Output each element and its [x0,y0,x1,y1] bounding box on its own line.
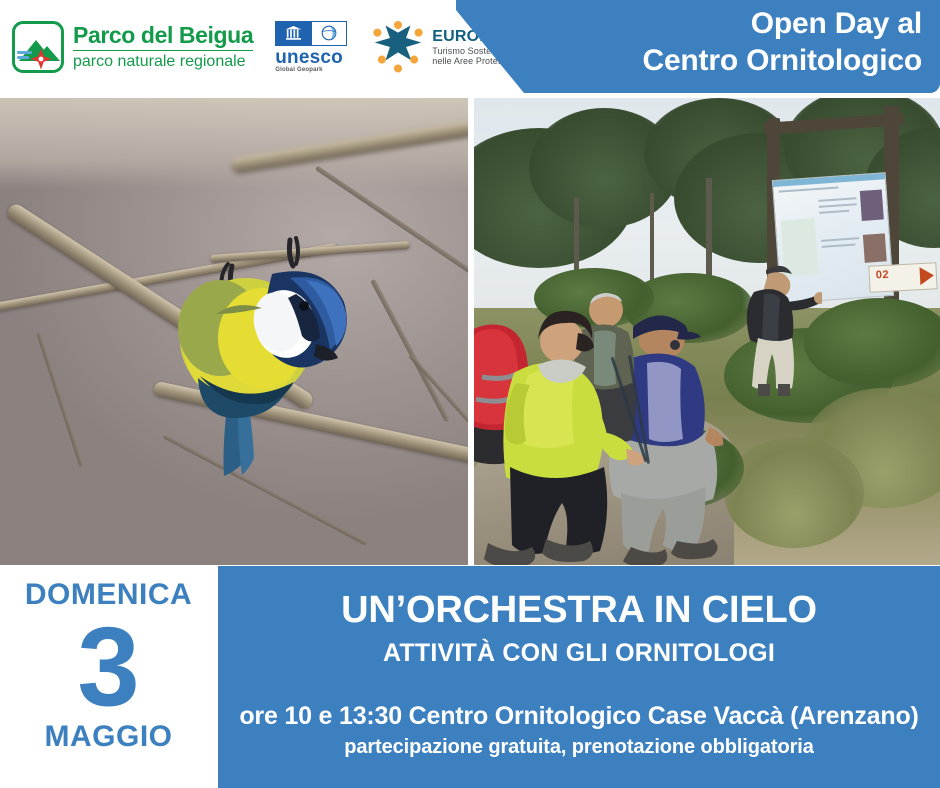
flower-icon [30,48,52,70]
unesco-globe-cell [311,22,347,45]
blue-tit-bird [120,228,370,498]
park-mountain-flower-logo-icon [12,21,64,73]
date-month: MAGGIO [0,720,217,754]
header-banner-text: Open Day al Centro Ornitologico [502,6,922,79]
logo-unesco-wordmark: unesco [275,48,349,68]
date-day-number: 3 [0,608,217,726]
logo-beigua-subtitle: parco naturale regionale [73,54,253,70]
photo-blue-tit: G. Motta [0,98,468,565]
arrow-right-icon [919,266,934,285]
event-info-block: UN’ORCHESTRA IN CIELO ATTIVITÀ CON GLI O… [218,566,940,788]
info-board-text-line [819,210,849,214]
header-banner-line2: Centro Ornitologico [502,43,922,80]
water-line-icon-secondary [17,56,29,59]
info-board-text-line [779,186,839,192]
temple-icon [285,26,302,41]
event-time-and-place: ore 10 e 13:30 Centro Ornitologico Case … [218,702,940,731]
info-board-text-line [822,243,856,247]
trail-sign: 02 [868,262,937,293]
unesco-temple-cell [276,22,311,45]
poster: Parco del Beigua parco naturale regional… [0,0,940,788]
europarc-star-logo-icon [371,21,425,73]
poster-header: Parco del Beigua parco naturale regional… [0,0,940,96]
logo-beigua-wordmark: Parco del Beigua parco naturale regional… [73,24,253,71]
photo-hikers-info-board: 02 [474,98,940,565]
info-board-text-line [819,203,857,208]
info-board-photo [860,189,884,220]
event-booking-note: partecipazione gratuita, prenotazione ob… [218,736,940,759]
logo-beigua-divider [73,50,253,52]
logo-unesco-tagline: Global Geopark [275,67,349,73]
logo-row: Parco del Beigua parco naturale regional… [12,14,524,80]
logo-unesco: unesco Global Geopark [275,21,349,74]
event-subtitle: ATTIVITÀ CON GLI ORNITOLOGI [218,639,940,668]
logo-beigua-title: Parco del Beigua [73,24,253,47]
info-board-photo [863,233,887,262]
globe-icon [321,25,337,41]
hiker-red-backpack [474,303,688,565]
date-block: DOMENICA 3 MAGGIO [0,566,217,788]
unesco-temple-globe-logo-icon [275,21,347,46]
trail-sign-number: 02 [876,269,890,282]
info-board-text-line [818,197,856,202]
logo-parco-del-beigua: Parco del Beigua parco naturale regional… [12,21,253,73]
info-board-text-line [821,237,859,242]
event-title: UN’ORCHESTRA IN CIELO [218,590,940,632]
header-banner-line1: Open Day al [751,7,922,40]
